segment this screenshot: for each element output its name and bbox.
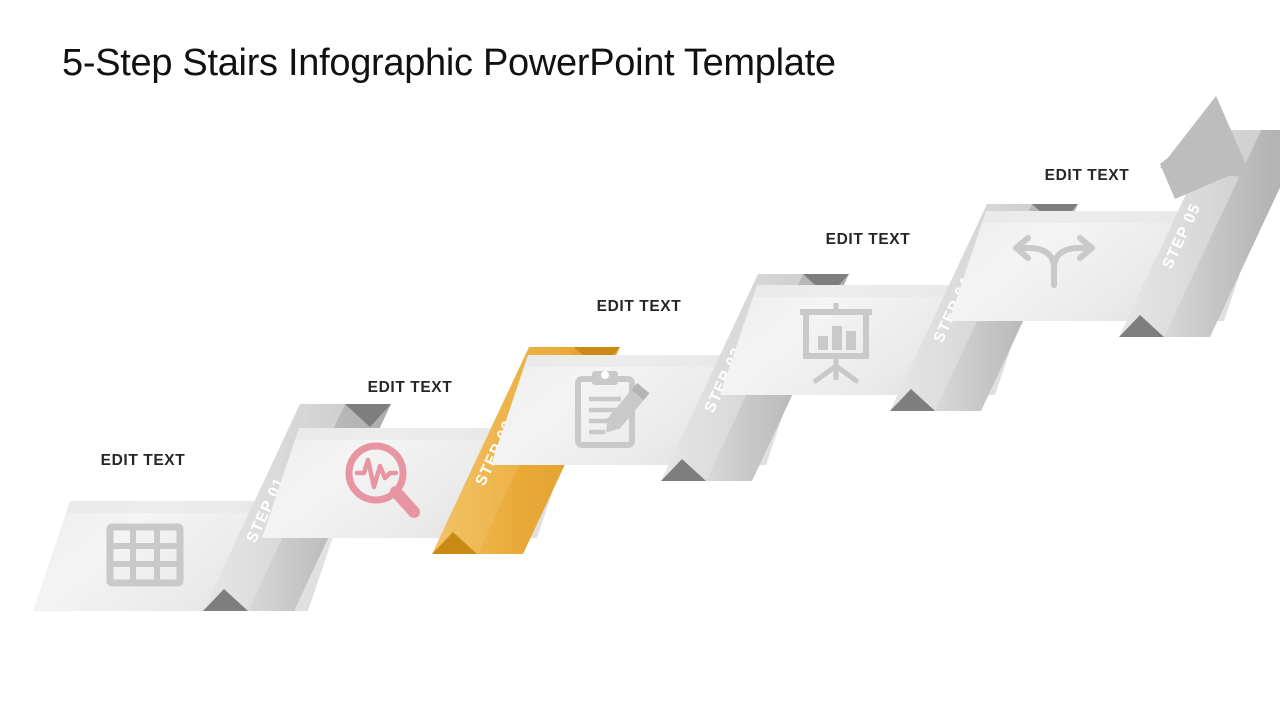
step-text-label-2[interactable]: EDIT TEXT xyxy=(368,379,453,397)
step-text-label-1[interactable]: EDIT TEXT xyxy=(101,452,186,470)
step-text-label-5[interactable]: EDIT TEXT xyxy=(1045,167,1130,185)
step-text-label-4[interactable]: EDIT TEXT xyxy=(826,231,911,249)
stairs-infographic: STEP 01 STEP 02 xyxy=(0,0,1280,720)
step-group-5[interactable]: STEP 05 xyxy=(949,96,1280,337)
step-text-label-3[interactable]: EDIT TEXT xyxy=(597,298,682,316)
slide-canvas: 5-Step Stairs Infographic PowerPoint Tem… xyxy=(0,0,1280,720)
